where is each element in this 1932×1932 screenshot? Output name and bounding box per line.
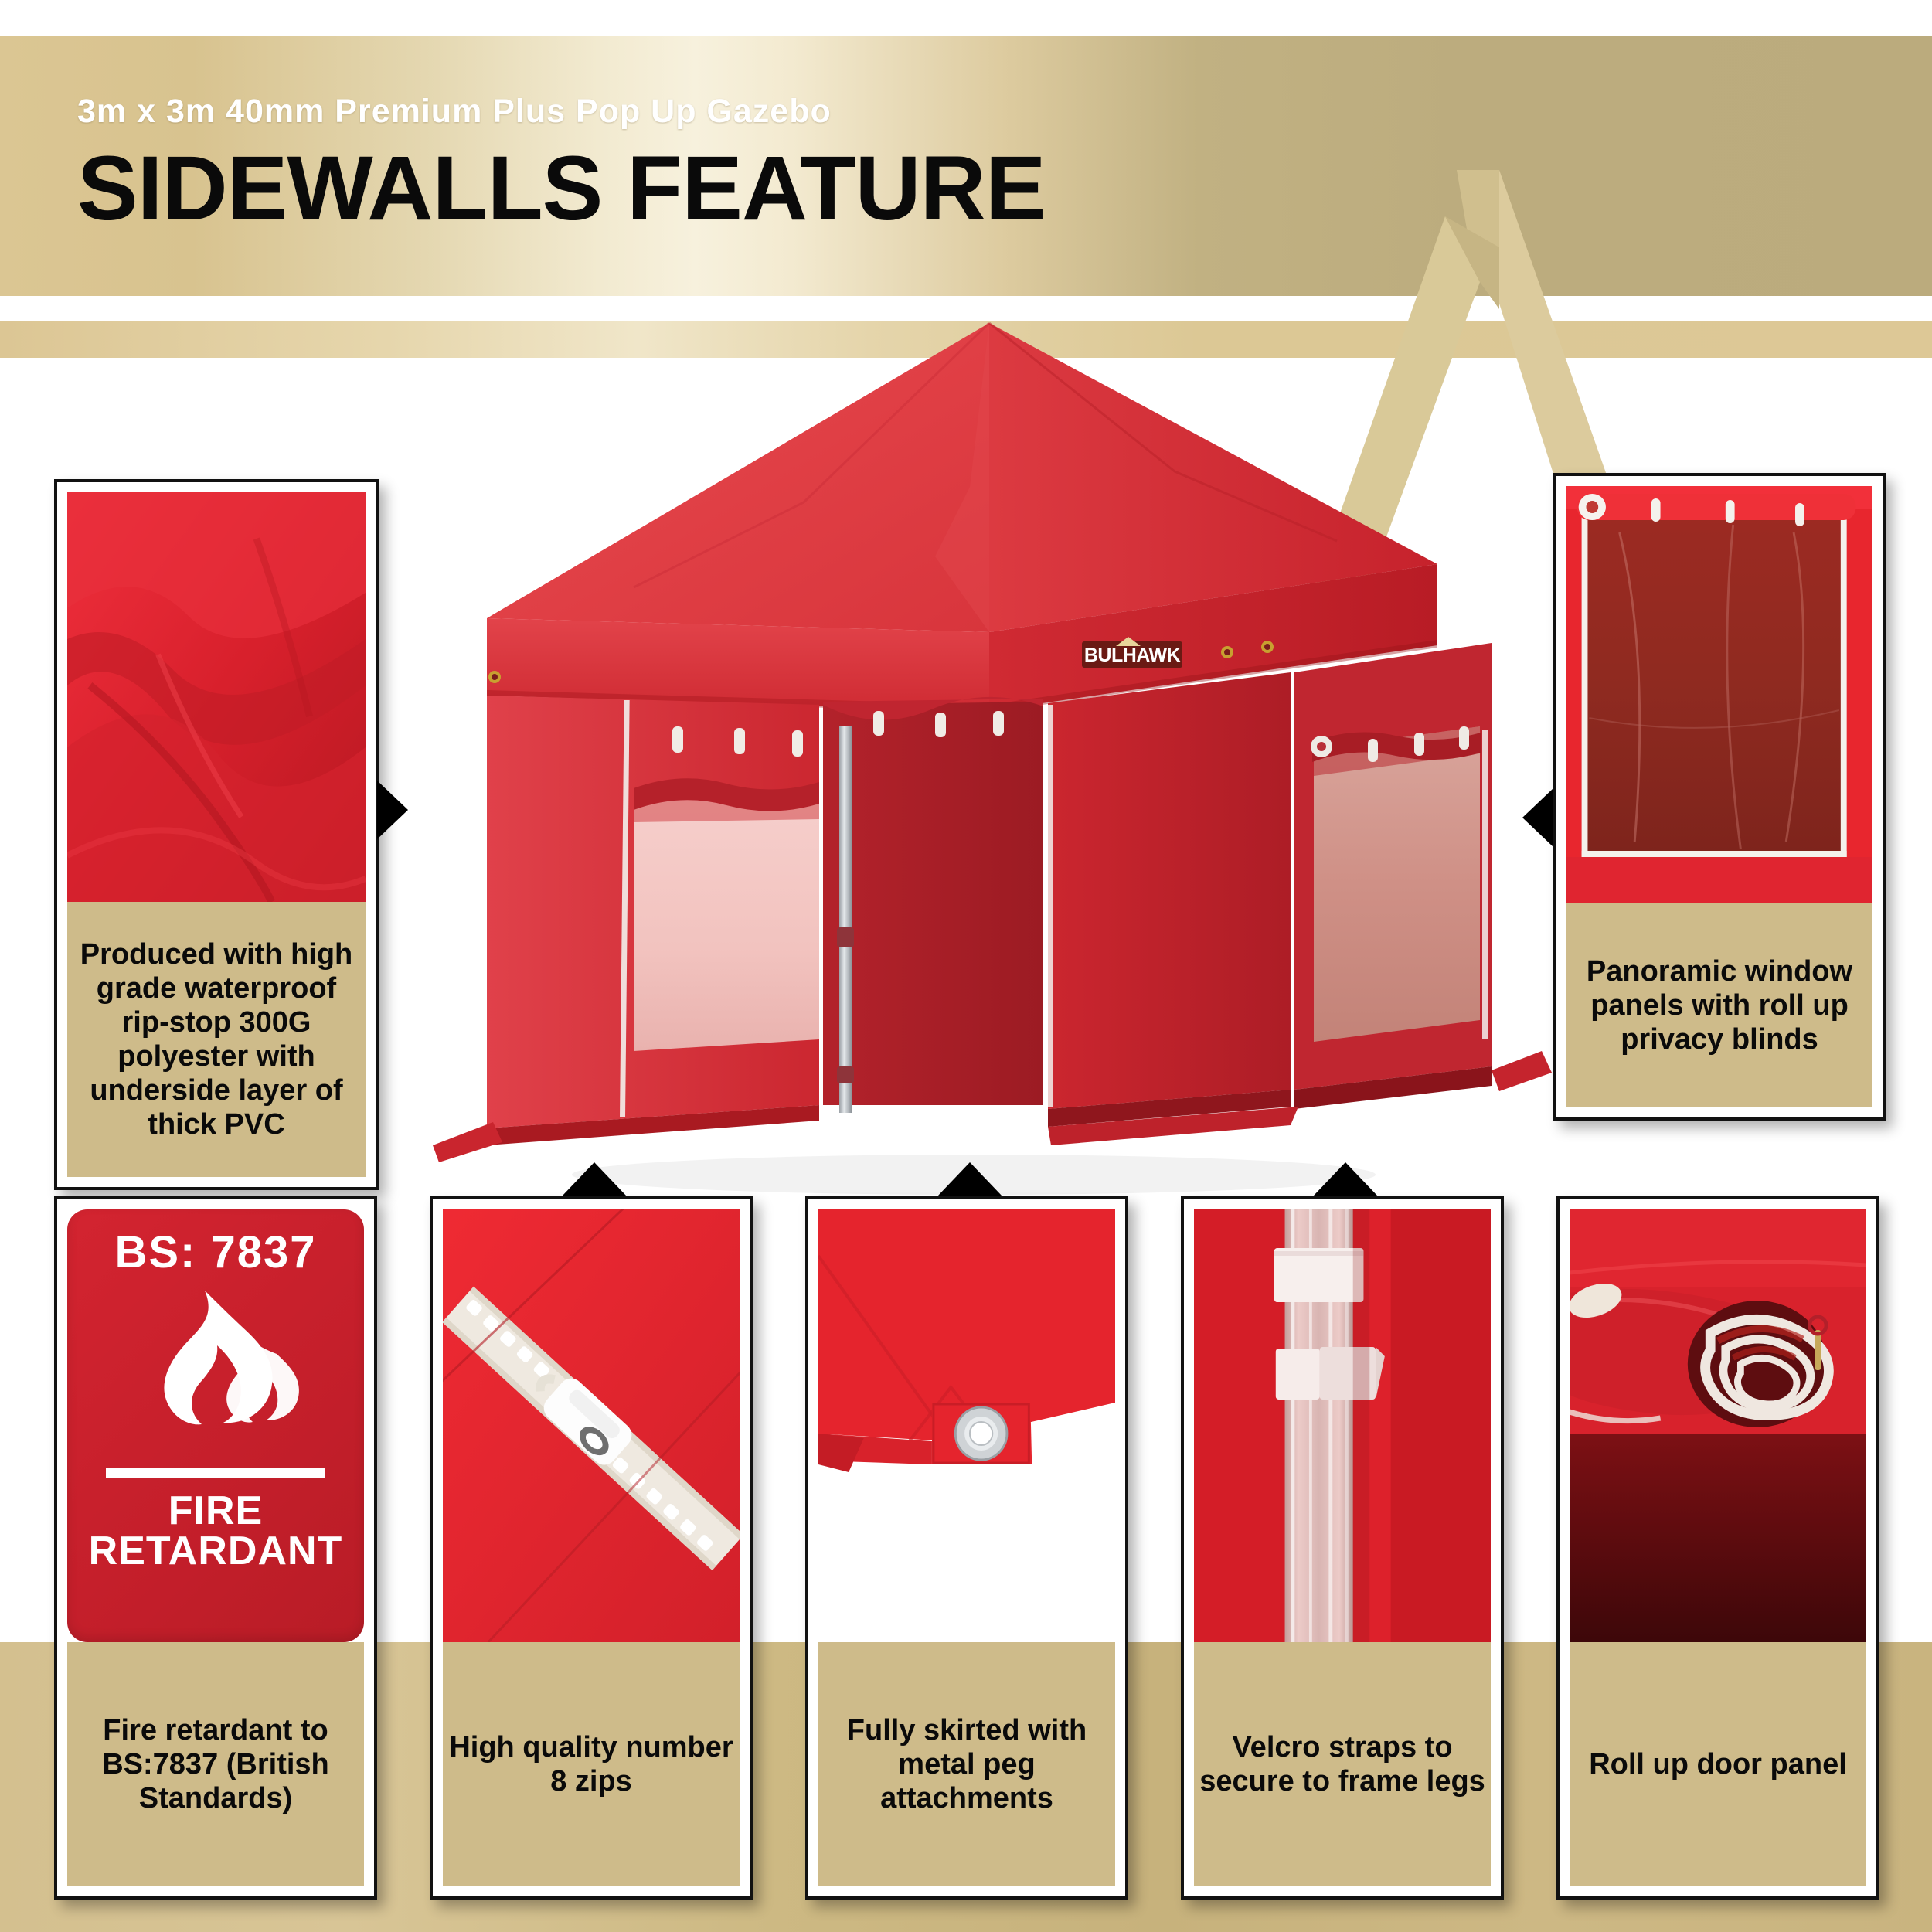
pointer-left-icon — [1522, 788, 1553, 847]
panoramic-window-panel-photo — [1566, 486, 1872, 903]
page-title: SIDEWALLS FEATURE — [77, 141, 1046, 237]
card-zip-caption: High quality number 8 zips — [443, 1642, 740, 1886]
pointer-up-icon — [562, 1162, 627, 1196]
card-window[interactable]: Panoramic window panels with roll up pri… — [1553, 473, 1886, 1121]
fire-standard-code: BS: 7837 — [114, 1226, 316, 1278]
red-ripstop-fabric-photo — [67, 492, 366, 902]
gazebo-product-image: BULHAWK — [402, 309, 1577, 1221]
card-peg-caption: Fully skirted with metal peg attachments — [818, 1642, 1115, 1886]
card-peg-attachments[interactable]: Fully skirted with metal peg attachments — [805, 1196, 1128, 1900]
bulhawk-logo: BULHAWK — [1082, 637, 1182, 668]
card-roll-up-door[interactable]: Roll up door panel — [1556, 1196, 1879, 1900]
card-fabric-caption: Produced with high grade waterproof rip-… — [67, 902, 366, 1177]
rolled-up-door-panel-photo — [1570, 1209, 1866, 1642]
fire-retardant-badge: BS: 7837 FIRE RETARDANT — [67, 1209, 364, 1642]
fire-retardant-label-line2: RETARDANT — [89, 1531, 343, 1571]
card-zips[interactable]: High quality number 8 zips — [430, 1196, 753, 1900]
pointer-up-icon — [1313, 1162, 1378, 1196]
svg-text:BULHAWK: BULHAWK — [1084, 645, 1181, 666]
metal-peg-eyelet-photo — [818, 1209, 1115, 1642]
card-fire-caption: Fire retardant to BS:7837 (British Stand… — [67, 1642, 364, 1886]
card-window-caption: Panoramic window panels with roll up pri… — [1566, 903, 1872, 1107]
title-block: 3m x 3m 40mm Premium Plus Pop Up Gazebo … — [77, 93, 1046, 237]
flame-icon — [131, 1286, 301, 1464]
card-velcro-caption: Velcro straps to secure to frame legs — [1194, 1642, 1491, 1886]
pointer-up-icon — [937, 1162, 1002, 1196]
product-subtitle: 3m x 3m 40mm Premium Plus Pop Up Gazebo — [77, 93, 1046, 131]
white-number-8-zip-photo — [443, 1209, 740, 1642]
card-velcro-straps[interactable]: Velcro straps to secure to frame legs — [1181, 1196, 1504, 1900]
card-fabric[interactable]: Produced with high grade waterproof rip-… — [54, 479, 379, 1190]
fire-retardant-label-line1: FIRE — [168, 1491, 263, 1531]
card-fire-retardant[interactable]: BS: 7837 FIRE RETARDANT Fire retardant t… — [54, 1196, 377, 1900]
badge-divider — [106, 1468, 325, 1478]
card-door-caption: Roll up door panel — [1570, 1642, 1866, 1886]
velcro-strap-on-leg-photo — [1194, 1209, 1491, 1642]
pointer-right-icon — [377, 781, 408, 839]
